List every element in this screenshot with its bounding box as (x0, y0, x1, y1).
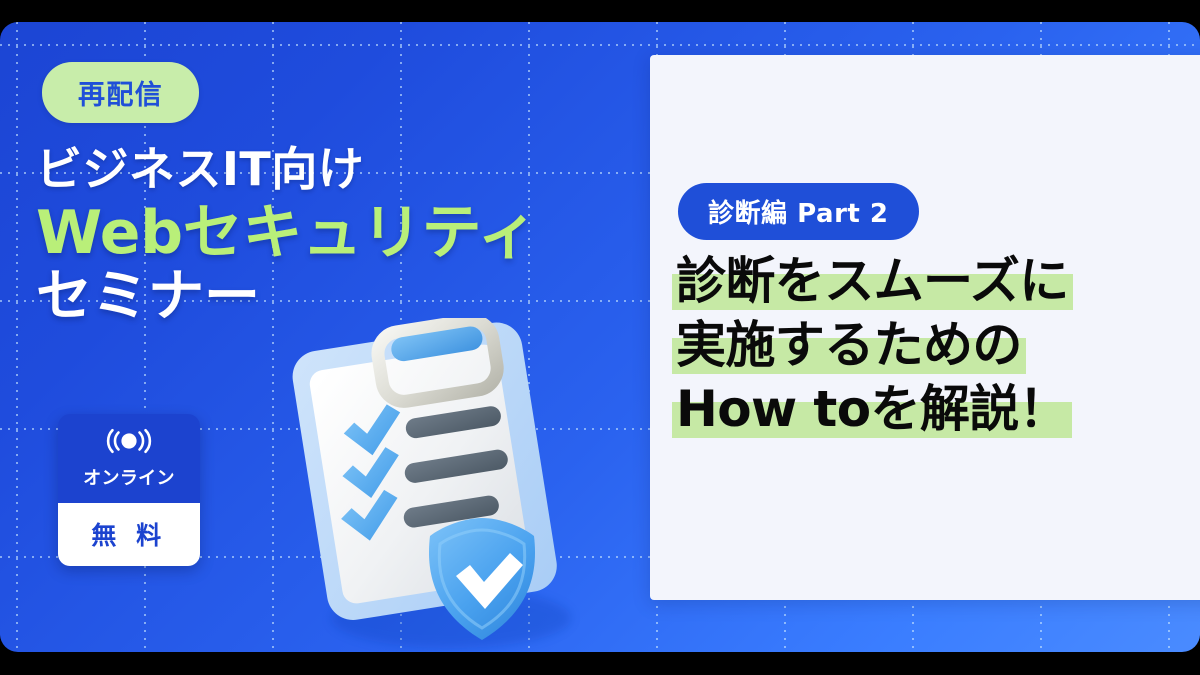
title-line-audience: ビジネスIT向け (36, 144, 537, 196)
panel-headline: 診断をスムーズに 実施するための How toを解説！ (672, 255, 1192, 447)
rebroadcast-badge: 再配信 (42, 62, 199, 123)
headline-line-text: How toを解説！ (672, 383, 1072, 436)
headline-line: 診断をスムーズに (672, 255, 1192, 308)
headline-line: How toを解説！ (672, 383, 1192, 436)
headline-line: 実施するための (672, 319, 1192, 372)
right-white-panel: 診断編 Part 2 診断をスムーズに 実施するための How toを解説！ (650, 55, 1200, 600)
blue-background-canvas: 再配信 ビジネスIT向け Webセキュリティ セミナー (0, 22, 1200, 652)
clipboard-checklist-shield-illustration (286, 318, 606, 652)
title-line-topic: Webセキュリティ (36, 198, 537, 269)
banner-stage: 再配信 ビジネスIT向け Webセキュリティ セミナー (0, 0, 1200, 675)
free-section: 無 料 (58, 503, 200, 566)
part-badge: 診断編 Part 2 (678, 183, 919, 240)
event-info-card: オンライン 無 料 (58, 414, 200, 566)
headline-line-text: 実施するための (672, 319, 1026, 372)
online-section: オンライン (58, 414, 200, 503)
broadcast-icon (58, 428, 200, 458)
online-label: オンライン (58, 464, 200, 490)
seminar-title: ビジネスIT向け Webセキュリティ セミナー (36, 144, 537, 329)
headline-line-text: 診断をスムーズに (672, 255, 1073, 308)
free-label: 無 料 (58, 516, 200, 552)
left-content-column: 再配信 ビジネスIT向け Webセキュリティ セミナー (0, 22, 640, 652)
